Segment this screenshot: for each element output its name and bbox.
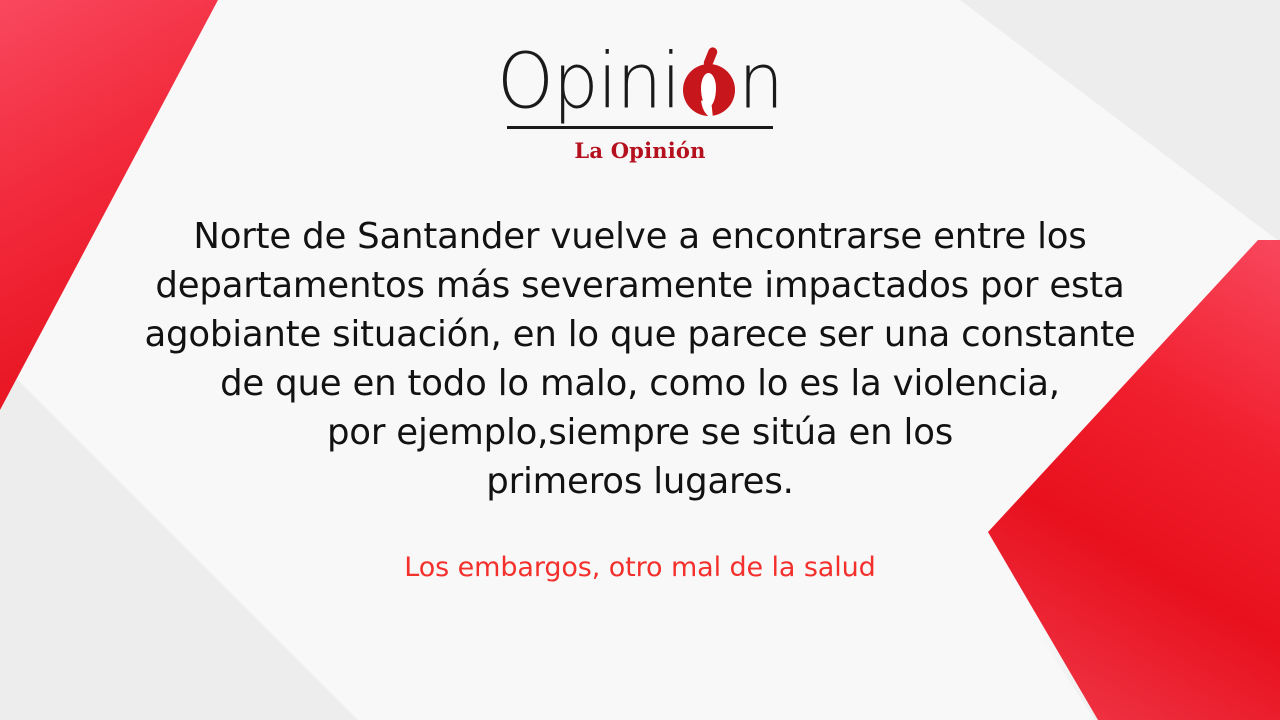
quote-line: agobiante situación, en lo que parece se…: [0, 310, 1280, 359]
quote-text: Norte de Santander vuelve a encontrarse …: [0, 212, 1280, 506]
social-quote-card: Opini n La Opinión Norte de Santander vu…: [0, 0, 1280, 720]
quote-line: primeros lugares.: [0, 457, 1280, 506]
logo-divider: [507, 126, 773, 129]
card-content: Opini n La Opinión Norte de Santander vu…: [0, 0, 1280, 720]
quote-line: Norte de Santander vuelve a encontrarse …: [0, 212, 1280, 261]
accented-o-icon: [680, 42, 738, 120]
brand-subtitle: La Opinión: [574, 138, 705, 163]
quote-line: departamentos más severamente impactados…: [0, 261, 1280, 310]
brand-logo: Opini n La Opinión: [0, 42, 1280, 163]
quote-line: de que en todo lo malo, como lo es la vi…: [0, 359, 1280, 408]
wordmark-text-end: n: [738, 44, 783, 119]
article-headline: Los embargos, otro mal de la salud: [0, 552, 1280, 583]
quote-line: por ejemplo,siempre se sitúa en los: [0, 408, 1280, 457]
brand-wordmark: Opini n: [497, 42, 783, 120]
wordmark-text-start: Opini: [497, 44, 680, 119]
